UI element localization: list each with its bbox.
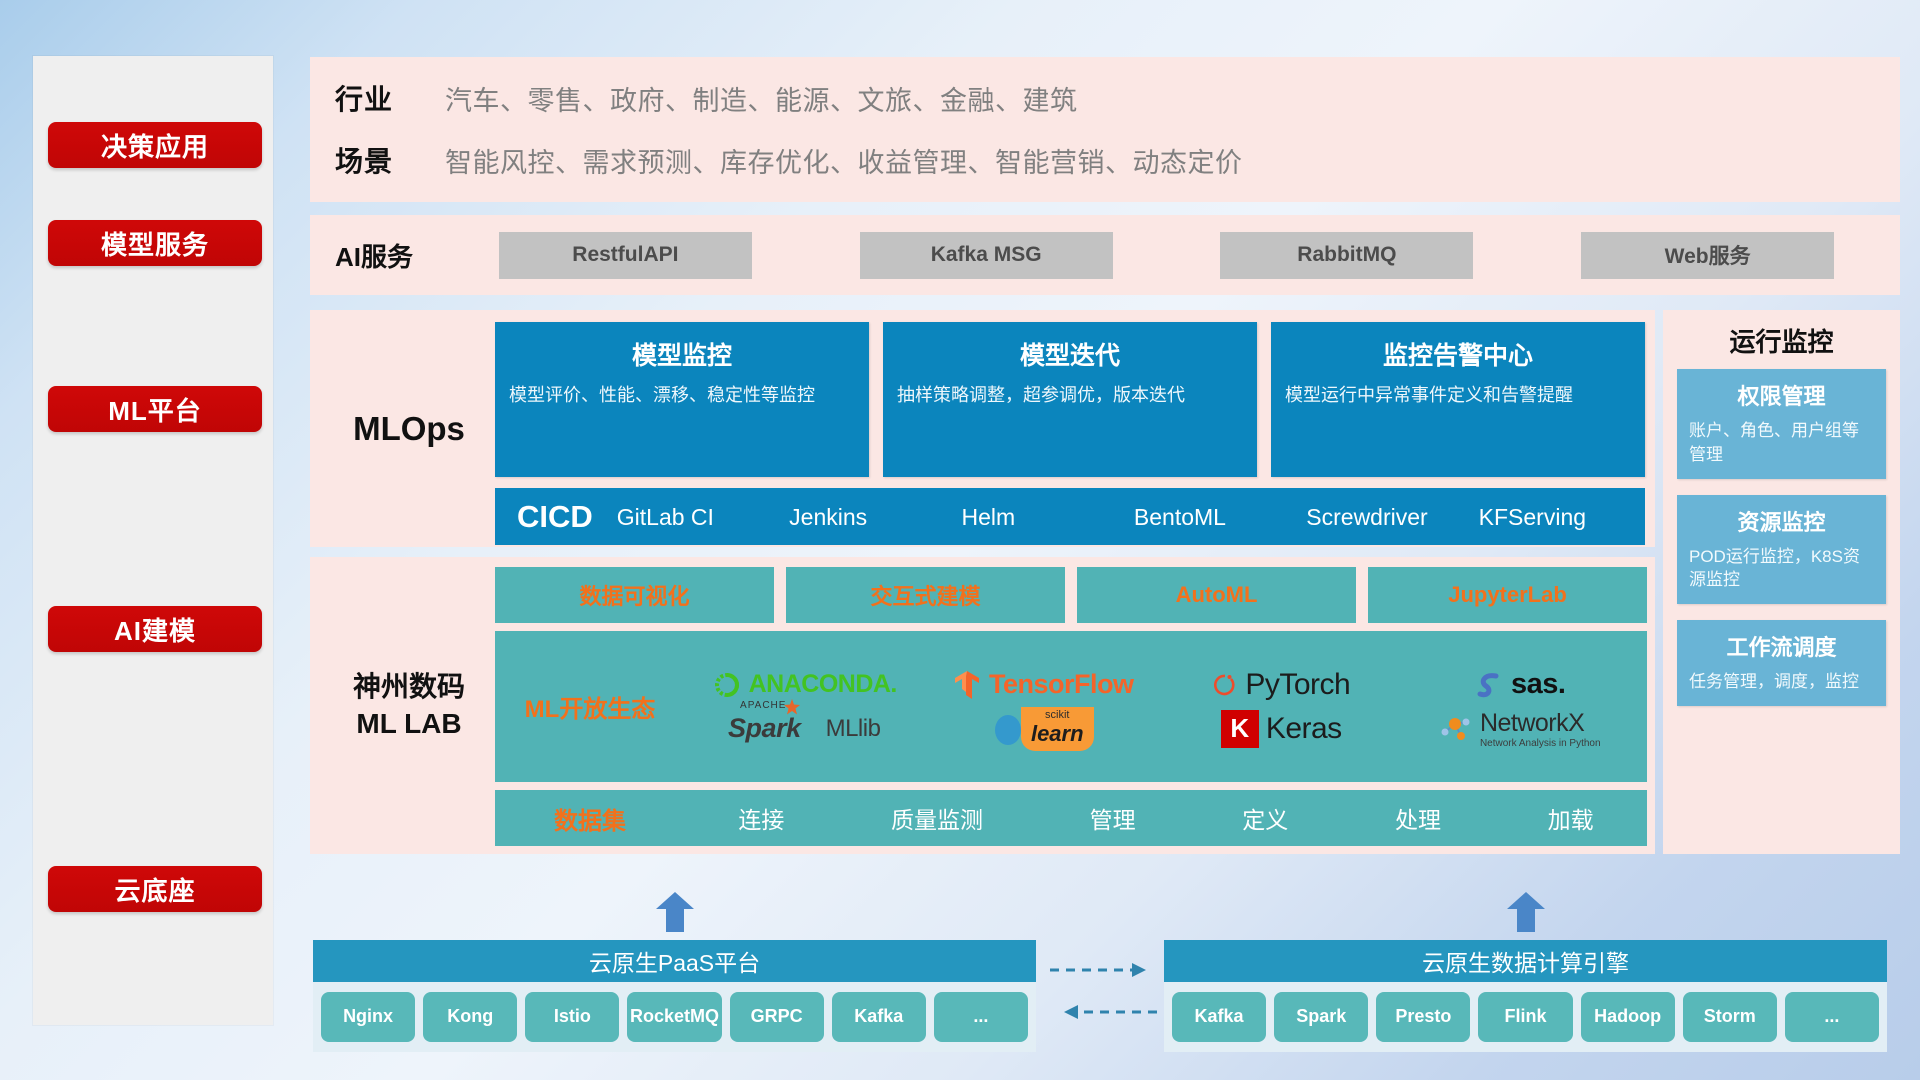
logo-networkx: NetworkX Network Analysis in Python xyxy=(1439,709,1601,749)
paas-item-kong[interactable]: Kong xyxy=(423,992,517,1042)
rail-item-ml-platform[interactable]: ML平台 xyxy=(48,386,262,432)
pytorch-icon xyxy=(1212,670,1238,700)
cicd-item-helm[interactable]: Helm xyxy=(956,502,1128,532)
cicd-item-screwdriver[interactable]: Screwdriver xyxy=(1300,502,1472,532)
runtime-monitoring-column: 运行监控 权限管理 账户、角色、用户组等管理 资源监控 POD运行监控，K8S资… xyxy=(1663,310,1900,854)
ai-modeling-band: 神州数码 ML LAB 数据可视化 交互式建模 AutoML JupyterLa… xyxy=(310,557,1655,854)
mlops-card-alert-center[interactable]: 监控告警中心 模型运行中异常事件定义和告警提醒 xyxy=(1271,322,1645,477)
mlops-card-model-monitoring[interactable]: 模型监控 模型评价、性能、漂移、稳定性等监控 xyxy=(495,322,869,477)
ai-service-label: AI服务 xyxy=(335,237,445,274)
logo-text: TensorFlow xyxy=(989,669,1134,700)
rail-item-model-service[interactable]: 模型服务 xyxy=(48,220,262,266)
monitoring-card-resource[interactable]: 资源监控 POD运行监控，K8S资源监控 xyxy=(1677,495,1886,605)
logo-text: sas. xyxy=(1511,668,1565,701)
card-desc: POD运行监控，K8S资源监控 xyxy=(1689,545,1874,593)
rail-item-decision-app[interactable]: 决策应用 xyxy=(48,122,262,168)
spark-star-icon xyxy=(784,699,800,715)
scenario-row: 场景 智能风控、需求预测、库存优化、收益管理、智能营销、动态定价 xyxy=(310,129,1900,191)
engine-item-flink[interactable]: Flink xyxy=(1478,992,1572,1042)
logo-scikit-learn: scikit learn xyxy=(992,707,1094,751)
card-title: 模型监控 xyxy=(509,336,855,372)
ai-service-chip-restfulapi[interactable]: RestfulAPI xyxy=(499,232,752,279)
cicd-strip: CICD GitLab CI Jenkins Helm BentoML Scre… xyxy=(495,488,1645,545)
cicd-item-gitlab-ci[interactable]: GitLab CI xyxy=(611,502,783,532)
paas-stack: 云原生PaaS平台 Nginx Kong Istio RocketMQ GRPC… xyxy=(313,940,1036,1052)
logo-text: PyTorch xyxy=(1245,668,1350,702)
networkx-subtitle: Network Analysis in Python xyxy=(1480,738,1601,749)
keras-k-icon: K xyxy=(1221,710,1259,748)
paas-item-more[interactable]: ... xyxy=(934,992,1028,1042)
scikit-word: scikit xyxy=(1045,709,1069,721)
dataset-strip: 数据集 连接 质量监测 管理 定义 处理 加载 xyxy=(495,790,1647,846)
cicd-item-kfserving[interactable]: KFServing xyxy=(1473,502,1645,532)
engine-item-presto[interactable]: Presto xyxy=(1376,992,1470,1042)
ai-service-band: AI服务 RestfulAPI Kafka MSG RabbitMQ Web服务 xyxy=(310,215,1900,295)
monitoring-card-permission[interactable]: 权限管理 账户、角色、用户组等管理 xyxy=(1677,369,1886,479)
industry-row: 行业 汽车、零售、政府、制造、能源、文旅、金融、建筑 xyxy=(310,67,1900,129)
data-engine-stack: 云原生数据计算引擎 Kafka Spark Presto Flink Hadoo… xyxy=(1164,940,1887,1052)
card-desc: 抽样策略调整，超参调优，版本迭代 xyxy=(897,382,1243,408)
mlops-band: MLOps 模型监控 模型评价、性能、漂移、稳定性等监控 模型迭代 抽样策略调整… xyxy=(310,310,1655,547)
dataset-item-process[interactable]: 处理 xyxy=(1395,801,1441,835)
rail-item-ai-modeling[interactable]: AI建模 xyxy=(48,606,262,652)
card-title: 工作流调度 xyxy=(1689,630,1874,662)
logo-sas: sas. xyxy=(1474,668,1565,701)
card-title: 资源监控 xyxy=(1689,505,1874,537)
dataset-item-define[interactable]: 定义 xyxy=(1242,801,1288,835)
logo-text: ANACONDA. xyxy=(749,670,897,699)
dataset-label: 数据集 xyxy=(495,801,685,836)
engine-item-hadoop[interactable]: Hadoop xyxy=(1581,992,1675,1042)
ml-open-ecosystem: ML开放生态 ANACONDA. Ten xyxy=(495,631,1647,782)
logo-anaconda: ANACONDA. xyxy=(712,670,897,700)
paas-title: 云原生PaaS平台 xyxy=(313,940,1036,982)
engine-item-kafka[interactable]: Kafka xyxy=(1172,992,1266,1042)
data-engine-items: Kafka Spark Presto Flink Hadoop Storm ..… xyxy=(1164,982,1887,1052)
logo-keras: K Keras xyxy=(1221,710,1342,748)
dataset-item-manage[interactable]: 管理 xyxy=(1090,801,1136,835)
logo-text: learn xyxy=(1031,721,1084,747)
arrow-up-paas-icon xyxy=(654,892,696,932)
paas-item-kafka[interactable]: Kafka xyxy=(832,992,926,1042)
ml-lab-line2: ML LAB xyxy=(356,706,461,742)
networkx-graph-icon xyxy=(1439,714,1473,744)
tool-jupyterlab[interactable]: JupyterLab xyxy=(1368,567,1647,623)
dataset-item-load[interactable]: 加载 xyxy=(1548,801,1594,835)
industry-values: 汽车、零售、政府、制造、能源、文旅、金融、建筑 xyxy=(445,79,1078,118)
card-desc: 账户、角色、用户组等管理 xyxy=(1689,419,1874,467)
ml-lab-label: 神州数码 ML LAB xyxy=(324,557,494,854)
cicd-item-jenkins[interactable]: Jenkins xyxy=(783,502,955,532)
tool-automl[interactable]: AutoML xyxy=(1077,567,1356,623)
paas-item-grpc[interactable]: GRPC xyxy=(730,992,824,1042)
logo-spark-mllib: APACHE Spark MLlib xyxy=(728,713,880,744)
anaconda-icon xyxy=(712,670,742,700)
logo-text: MLlib xyxy=(826,715,881,743)
sas-icon xyxy=(1474,670,1504,700)
card-desc: 模型评价、性能、漂移、稳定性等监控 xyxy=(509,382,855,408)
ai-service-items: RestfulAPI Kafka MSG RabbitMQ Web服务 xyxy=(445,232,1900,279)
card-desc: 模型运行中异常事件定义和告警提醒 xyxy=(1285,382,1631,408)
dataset-item-connect[interactable]: 连接 xyxy=(738,801,784,835)
cicd-item-bentoml[interactable]: BentoML xyxy=(1128,502,1300,532)
paas-item-nginx[interactable]: Nginx xyxy=(321,992,415,1042)
tool-interactive-modeling[interactable]: 交互式建模 xyxy=(786,567,1065,623)
ml-lab-line1: 神州数码 xyxy=(353,669,465,705)
monitoring-card-workflow[interactable]: 工作流调度 任务管理，调度，监控 xyxy=(1677,620,1886,706)
bidirectional-link-icon xyxy=(1046,954,1164,1028)
mlops-label: MLOps xyxy=(334,310,484,547)
ai-service-chip-web[interactable]: Web服务 xyxy=(1581,232,1834,279)
engine-item-storm[interactable]: Storm xyxy=(1683,992,1777,1042)
paas-item-rocketmq[interactable]: RocketMQ xyxy=(627,992,721,1042)
dataset-items: 连接 质量监测 管理 定义 处理 加载 xyxy=(685,801,1647,835)
spark-word: Spark xyxy=(728,713,801,743)
logo-text: NetworkX xyxy=(1480,709,1601,738)
tensorflow-icon xyxy=(952,669,982,701)
architecture-diagram: 决策应用 模型服务 ML平台 AI建模 云底座 行业 汽车、零售、政府、制造、能… xyxy=(0,0,1920,1080)
arrow-up-engine-icon xyxy=(1505,892,1547,932)
ai-service-chip-rabbitmq[interactable]: RabbitMQ xyxy=(1220,232,1473,279)
card-title: 模型迭代 xyxy=(897,336,1243,372)
layer-rail: 决策应用 模型服务 ML平台 AI建模 云底座 xyxy=(33,56,273,1025)
cicd-items: GitLab CI Jenkins Helm BentoML Screwdriv… xyxy=(611,502,1645,532)
card-title: 监控告警中心 xyxy=(1285,336,1631,372)
eco-logo-grid: ANACONDA. TensorFlow xyxy=(685,663,1647,751)
logo-tensorflow: TensorFlow xyxy=(952,669,1134,701)
engine-item-more[interactable]: ... xyxy=(1785,992,1879,1042)
mlops-card-model-iteration[interactable]: 模型迭代 抽样策略调整，超参调优，版本迭代 xyxy=(883,322,1257,477)
rail-item-cloud-base[interactable]: 云底座 xyxy=(48,866,262,912)
logo-text: Keras xyxy=(1266,712,1342,746)
cicd-title: CICD xyxy=(517,499,593,535)
monitoring-title: 运行监控 xyxy=(1663,310,1900,369)
logo-pytorch: PyTorch xyxy=(1212,668,1350,702)
mlops-cards: 模型监控 模型评价、性能、漂移、稳定性等监控 模型迭代 抽样策略调整，超参调优，… xyxy=(495,322,1645,477)
industry-label: 行业 xyxy=(335,78,445,118)
application-band: 行业 汽车、零售、政府、制造、能源、文旅、金融、建筑 场景 智能风控、需求预测、… xyxy=(310,57,1900,202)
card-desc: 任务管理，调度，监控 xyxy=(1689,670,1874,694)
ai-service-chip-kafka-msg[interactable]: Kafka MSG xyxy=(860,232,1113,279)
tool-data-visualization[interactable]: 数据可视化 xyxy=(495,567,774,623)
scenario-values: 智能风控、需求预测、库存优化、收益管理、智能营销、动态定价 xyxy=(445,141,1243,180)
paas-item-istio[interactable]: Istio xyxy=(525,992,619,1042)
apache-label: APACHE xyxy=(740,700,786,711)
card-title: 权限管理 xyxy=(1689,379,1874,411)
paas-items: Nginx Kong Istio RocketMQ GRPC Kafka ... xyxy=(313,982,1036,1052)
engine-item-spark[interactable]: Spark xyxy=(1274,992,1368,1042)
eco-label: ML开放生态 xyxy=(495,689,685,724)
scenario-label: 场景 xyxy=(335,140,445,180)
data-engine-title: 云原生数据计算引擎 xyxy=(1164,940,1887,982)
dataset-item-quality[interactable]: 质量监测 xyxy=(891,801,983,835)
modeling-tools: 数据可视化 交互式建模 AutoML JupyterLab xyxy=(495,567,1647,623)
